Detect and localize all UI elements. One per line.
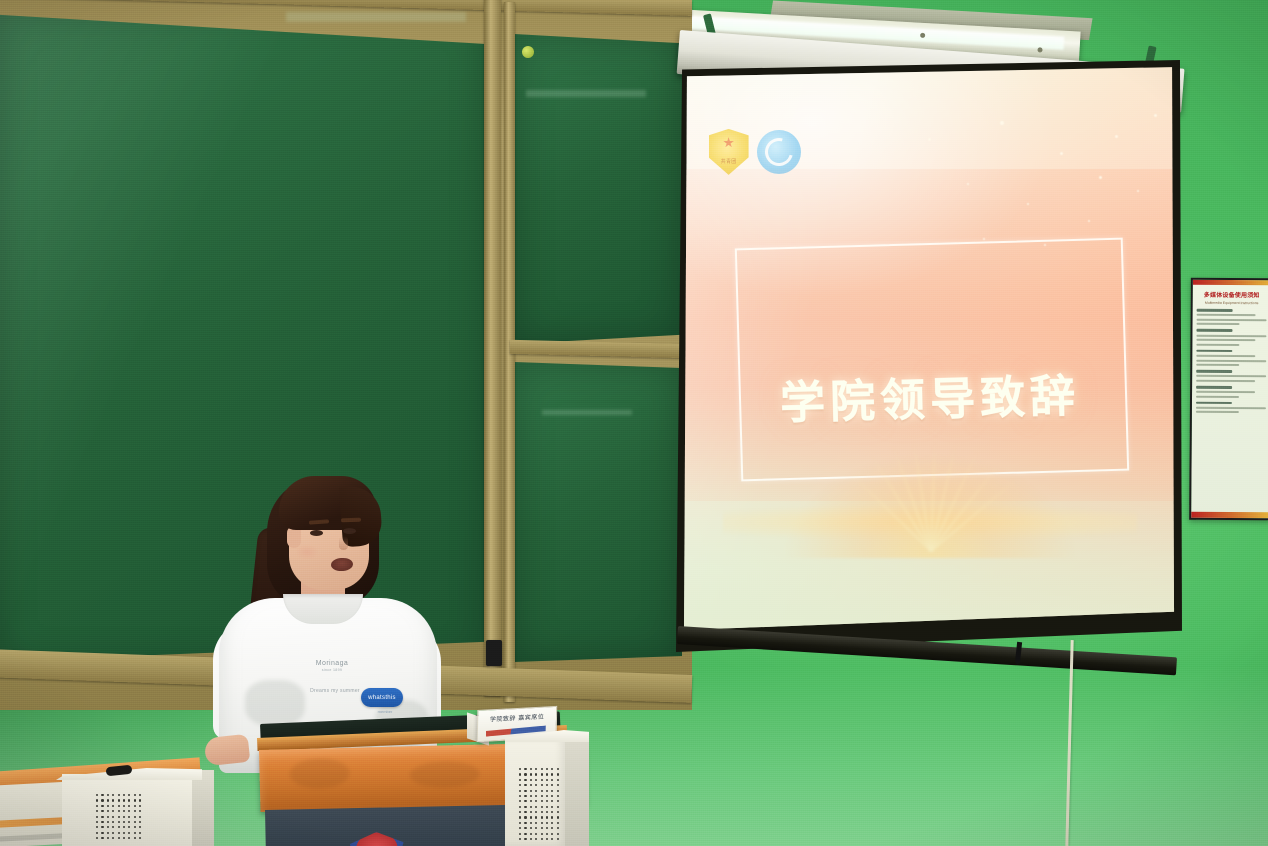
name-card-text: 学院致辞 嘉宾席位 [478,711,556,724]
speaker-cabinet-left [44,768,214,846]
presenter-brow-right [341,518,361,523]
chalk-smudge-2 [526,90,646,97]
speaker-right-grille [519,768,559,840]
school-emblem-icon [757,130,801,174]
slide-surface: 共青团 学院领导致辞 [684,66,1176,638]
chalk-smudge-3 [542,410,632,415]
shirt-graphic-print: Morinaga since 1899 [301,660,363,676]
wall-instruction-poster: 多媒体设备使用须知 Multimedia Equipment Instructi… [1189,278,1268,521]
board-knob-icon[interactable] [522,46,534,58]
poster-title: 多媒体设备使用须知 [1197,290,1267,299]
presenter-eye-left [310,530,323,536]
blackboard-panel-upper-right [514,34,682,344]
poster-body-text [1192,309,1268,414]
shirt-blue-badge: whatsthis [361,688,403,707]
youth-league-emblem-caption: 共青团 [721,158,737,165]
poster-subtitle: Multimedia Equipment Instructions [1193,301,1268,306]
blackboard-panel-lower-right [514,362,682,662]
shirt-fold-1 [245,680,305,726]
slide-logo-group: 共青团 [709,129,801,175]
chalk-smudge-1 [286,12,466,22]
poster-top-accent-bar [1193,280,1268,286]
shirt-badge-subtext: member [365,709,405,714]
presenter-nose [339,536,348,550]
shirt-print-line-2: since 1899 [301,668,363,672]
speaker-right-side-panel [563,732,589,846]
presenter-eye-right [343,528,356,534]
speaker-right-top-panel [505,730,589,742]
speaker-left-side-panel [190,770,214,846]
youth-league-emblem-icon: 共青团 [709,129,749,175]
chalk-clip[interactable] [486,640,502,666]
presenter-cheek [295,544,319,560]
projection-screen-assembly: Redleaf [676,30,1188,630]
poster-bottom-accent-bar [1191,512,1268,519]
speaker-cabinet-right [505,730,589,846]
shirt-print-line-1: Morinaga [301,660,363,667]
blackboard-rail-vertical-mid [484,0,501,696]
speaker-left-grille [96,794,141,839]
classroom-photo-scene: Redleaf [0,0,1268,846]
